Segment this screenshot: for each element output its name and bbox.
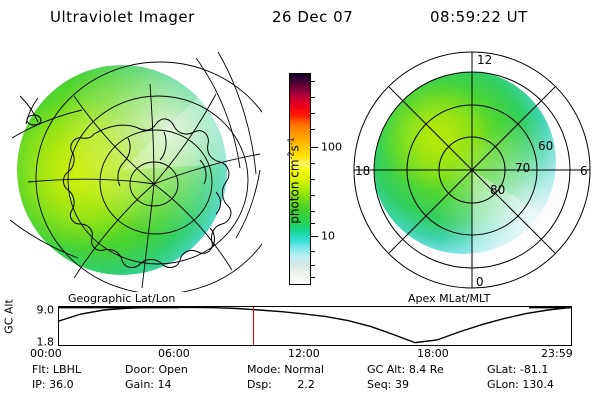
mlat-label-60: 60: [538, 139, 553, 153]
aurora-emission-left: [4, 42, 262, 292]
status-glon-label: GLon:: [487, 378, 519, 391]
strip-x-tick-0000: 00:00: [30, 347, 62, 360]
status-mode-value: Normal: [284, 363, 324, 376]
strip-y-axis-label: GC Alt: [3, 294, 16, 340]
status-glat-value: -81.1: [520, 363, 548, 376]
status-flt: Flt: LBHL: [32, 363, 81, 376]
observation-date: 26 Dec 07: [272, 8, 353, 26]
status-flt-value: LBHL: [53, 363, 81, 376]
geographic-panel: Geographic Lat/Lon: [4, 42, 262, 292]
status-door-label: Door:: [125, 363, 155, 376]
status-seq-label: Seq:: [367, 378, 391, 391]
instrument-title: Ultraviolet Imager: [50, 8, 195, 26]
status-ip-value: 36.0: [49, 378, 74, 391]
status-door: Door: Open: [125, 363, 188, 376]
strip-plot-area: [58, 306, 572, 346]
status-mode: Mode: Normal: [247, 363, 324, 376]
status-gcalt-value: 8.4 Re: [409, 363, 444, 376]
uv-imager-screen: Ultraviolet Imager 26 Dec 07 08:59:22 UT: [0, 0, 600, 400]
status-flt-label: Flt:: [32, 363, 49, 376]
mlt-label-12: 12: [477, 53, 492, 67]
colorbar-unit-s: s: [288, 145, 302, 151]
strip-trace: [59, 307, 571, 345]
strip-y-tick-high: 9.0: [37, 304, 55, 317]
status-dsp-label: Dsp:: [247, 378, 272, 391]
status-glat: GLat: -81.1: [487, 363, 548, 376]
status-ip: IP: 36.0: [32, 378, 74, 391]
status-seq: Seq: 39: [367, 378, 409, 391]
mlt-label-18: 18: [355, 164, 370, 178]
strip-x-tick-0600: 06:00: [158, 347, 190, 360]
status-mode-label: Mode:: [247, 363, 281, 376]
status-glat-label: GLat:: [487, 363, 516, 376]
colorbar-label-10: 10: [321, 230, 335, 243]
status-door-value: Open: [158, 363, 187, 376]
apex-panel: 12 6 0 18 60 70 80 Apex MLat/MLT: [352, 42, 600, 292]
colorbar-unit-exp1: -2: [287, 151, 296, 159]
status-glon: GLon: 130.4: [487, 378, 554, 391]
status-dsp: Dsp: 2.2: [247, 378, 315, 391]
geographic-polar-plot: [4, 42, 262, 292]
mlat-label-80: 80: [490, 183, 505, 197]
status-gain-value: 14: [158, 378, 172, 391]
apex-polar-plot: 12 6 0 18 60 70 80: [352, 42, 600, 292]
status-gcalt: GC Alt: 8.4 Re: [367, 363, 444, 376]
altitude-strip-chart: GC Alt 9.0 1.8 00:00 06:00 12:00 18:00 2…: [0, 296, 600, 358]
mlt-label-6: 6: [580, 164, 588, 178]
strip-x-tick-1800: 18:00: [417, 347, 449, 360]
status-dsp-value: 2.2: [297, 378, 315, 391]
mlt-spokes: [354, 52, 590, 288]
current-time-marker: [253, 307, 254, 345]
colorbar-axis-title: photon cm-2s-1: [287, 116, 302, 246]
observation-time: 08:59:22 UT: [430, 8, 528, 26]
colorbar: 100 10 photon cm-2s-1: [265, 45, 351, 295]
status-gain-label: Gain:: [125, 378, 154, 391]
status-seq-value: 39: [395, 378, 409, 391]
colorbar-label-100: 100: [321, 141, 342, 154]
strip-x-tick-2359: 23:59: [541, 347, 573, 360]
strip-x-tick-1200: 12:00: [288, 347, 320, 360]
mlat-label-70: 70: [515, 161, 530, 175]
colorbar-ticks: [311, 73, 319, 285]
status-gain: Gain: 14: [125, 378, 172, 391]
mlt-label-0: 0: [476, 275, 484, 289]
status-row-2: IP: 36.0 Gain: 14 Dsp: 2.2 Seq: 39 GLon:…: [0, 378, 600, 394]
status-glon-value: 130.4: [522, 378, 554, 391]
header-bar: Ultraviolet Imager 26 Dec 07 08:59:22 UT: [0, 8, 600, 32]
colorbar-unit-exp2: -1: [287, 137, 296, 145]
status-gcalt-label: GC Alt:: [367, 363, 405, 376]
status-footer: Flt: LBHL Door: Open Mode: Normal GC Alt…: [0, 363, 600, 399]
status-row-1: Flt: LBHL Door: Open Mode: Normal GC Alt…: [0, 363, 600, 379]
status-ip-label: IP:: [32, 378, 46, 391]
colorbar-unit-photon: photon cm: [288, 159, 302, 223]
